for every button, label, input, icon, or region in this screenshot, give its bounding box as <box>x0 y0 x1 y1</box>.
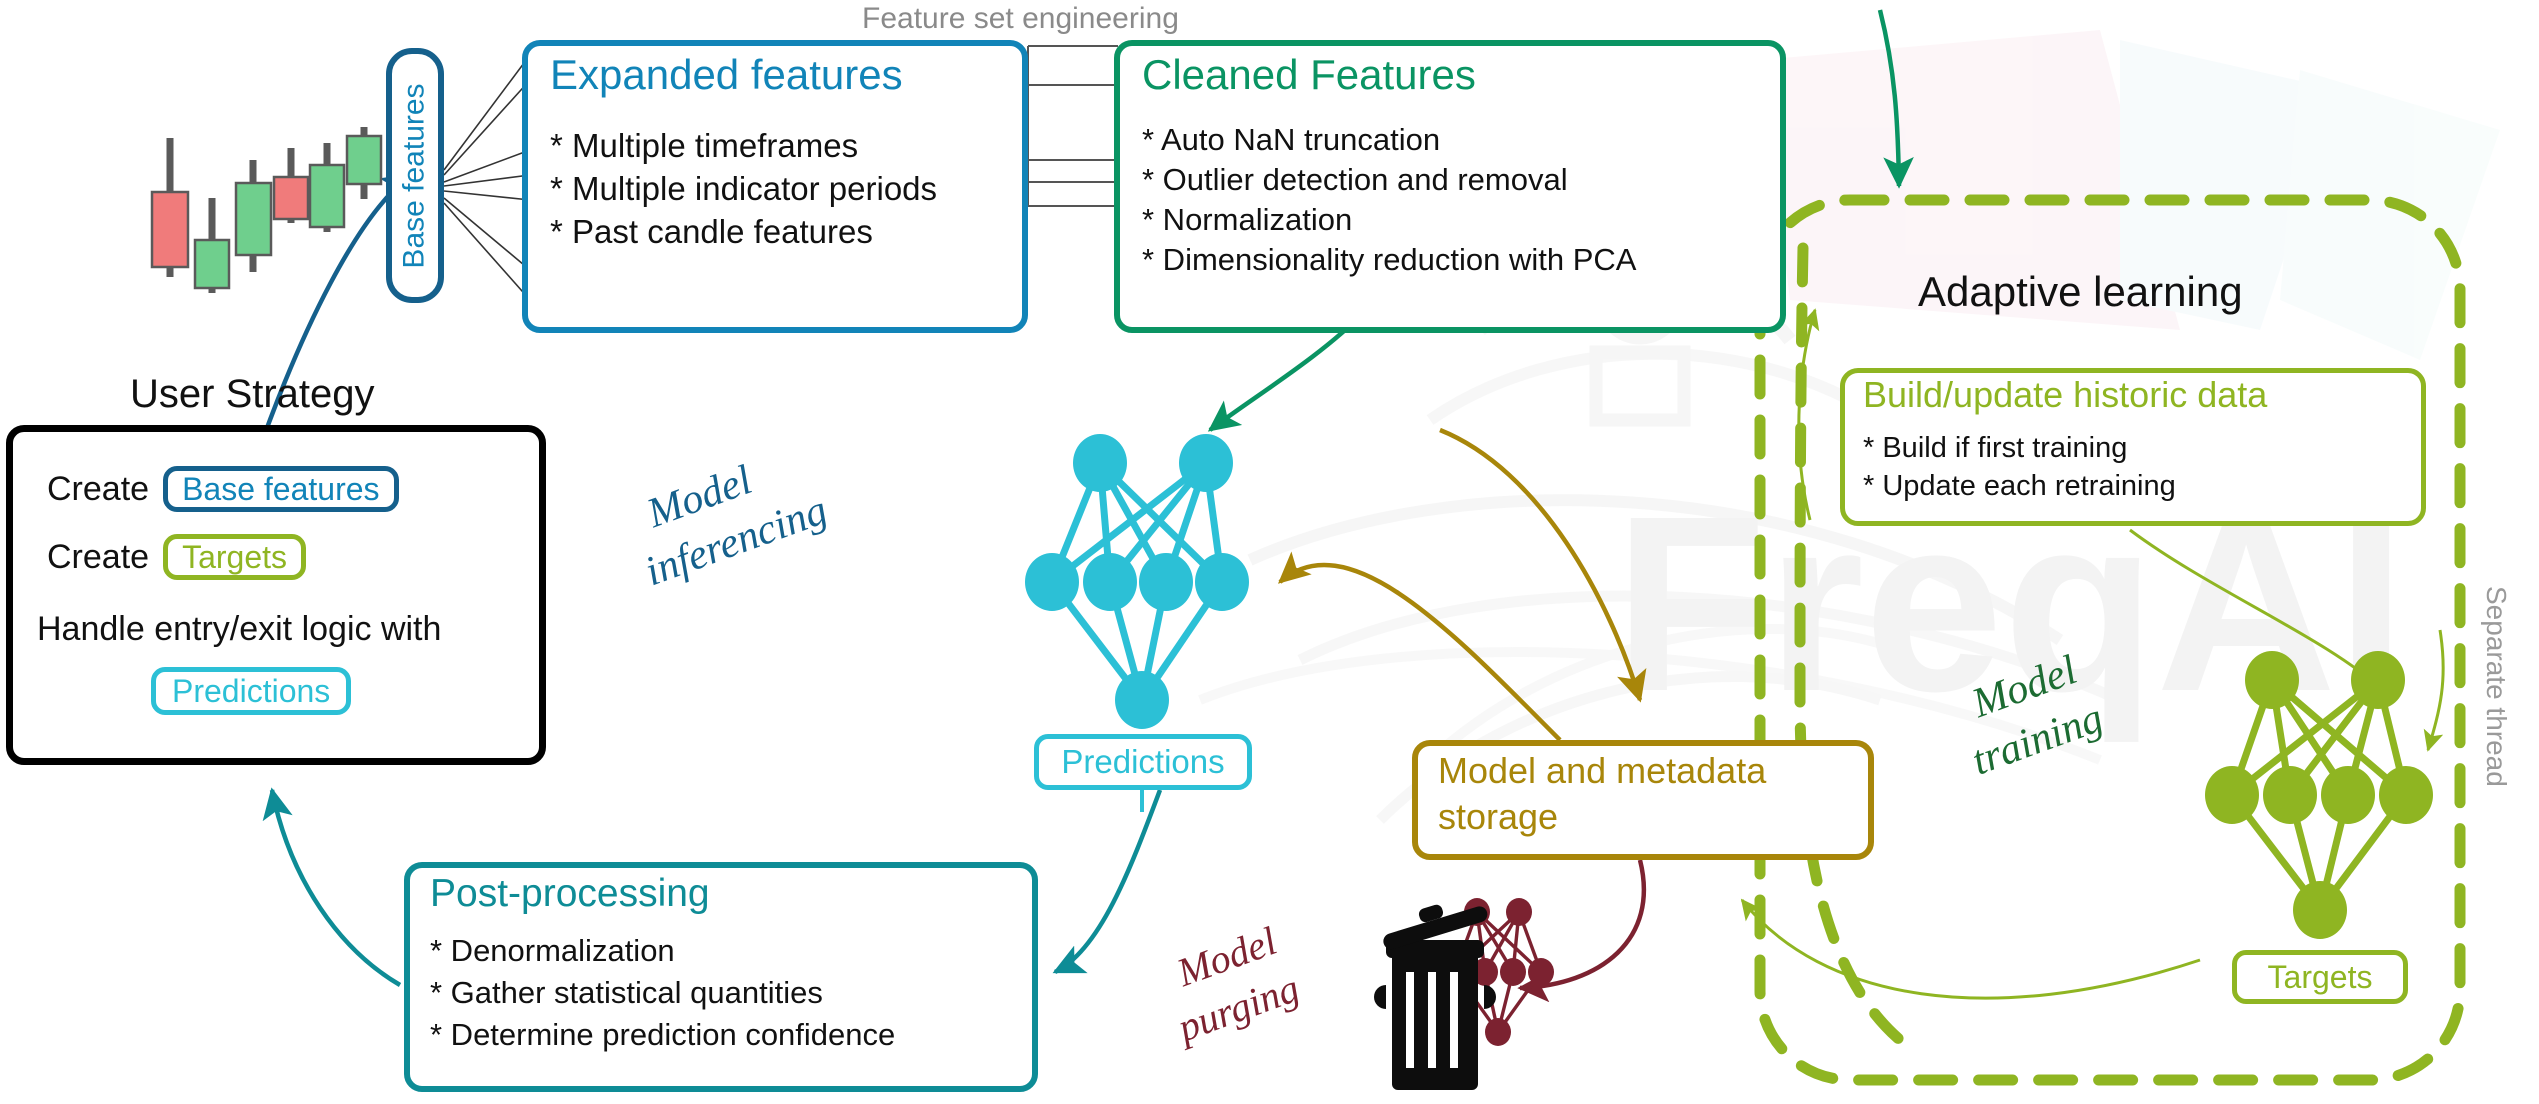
user-strategy-box[interactable]: Create Base features Create Targets Hand… <box>6 425 546 765</box>
create-label-1: Create <box>47 470 149 509</box>
list-item: * Normalization <box>1142 200 1637 240</box>
targets-inline-label: Targets <box>182 539 287 576</box>
list-item: * Dimensionality reduction with PCA <box>1142 240 1637 280</box>
build-update-bullets: * Build if first training * Update each … <box>1863 429 2176 505</box>
list-item: * Update each retraining <box>1863 467 2176 505</box>
model-storage-box[interactable]: Model and metadata storage <box>1412 740 1874 860</box>
arrow-predictions-to-post <box>1055 790 1160 972</box>
candlestick-chart <box>152 127 381 293</box>
feature-set-engineering-text: Feature set engineering <box>862 2 1179 35</box>
list-item: * Multiple indicator periods <box>550 167 937 210</box>
expanded-features-title: Expanded features <box>550 54 903 96</box>
build-update-title: Build/update historic data <box>1863 377 2267 413</box>
storage-line-1: Model and metadata <box>1438 750 1766 792</box>
list-item: * Gather statistical quantities <box>430 972 895 1014</box>
list-item: * Build if first training <box>1863 429 2176 467</box>
post-processing-bullets: * Denormalization * Gather statistical q… <box>430 930 895 1056</box>
trash-can-icon <box>1374 891 1496 1090</box>
user-strategy-title-text: User Strategy <box>130 372 375 416</box>
user-strategy-title: User Strategy <box>130 372 375 417</box>
fan-lines-expanded <box>444 55 530 300</box>
user-strategy-line-2: Create Targets <box>47 534 306 580</box>
build-update-box[interactable]: Build/update historic data * Build if fi… <box>1840 368 2426 526</box>
list-item: * Determine prediction confidence <box>430 1014 895 1056</box>
targets-pill[interactable]: Targets <box>2232 950 2408 1004</box>
cleaned-features-title: Cleaned Features <box>1142 54 1476 96</box>
base-features-inline-label: Base features <box>182 471 379 508</box>
arrow-post-to-strategy <box>272 790 400 985</box>
targets-pill-label: Targets <box>2268 959 2373 996</box>
predictions-inline-label: Predictions <box>172 673 330 710</box>
base-features-pill-label: Base features <box>398 83 432 268</box>
expanded-features-box[interactable]: Expanded features * Multiple timeframes … <box>522 40 1028 333</box>
predictions-pill-label: Predictions <box>1061 743 1224 781</box>
list-item: * Denormalization <box>430 930 895 972</box>
feature-set-engineering-label: Feature set engineering <box>862 2 1282 36</box>
list-item: * Auto NaN truncation <box>1142 120 1637 160</box>
list-item: * Past candle features <box>550 210 937 253</box>
rungs-expanded-to-cleaned <box>1028 46 1118 206</box>
diagram-canvas: FreqAI <box>0 0 2539 1104</box>
separate-thread-label: Separate thread <box>2480 586 2512 787</box>
cleaned-features-bullets: * Auto NaN truncation * Outlier detectio… <box>1142 120 1637 280</box>
user-strategy-line-3: Handle entry/exit logic with <box>37 610 441 649</box>
targets-inline-pill[interactable]: Targets <box>163 534 306 580</box>
base-features-inline-pill[interactable]: Base features <box>163 466 398 512</box>
base-features-pill[interactable]: Base features <box>386 48 444 303</box>
separate-thread-text: Separate thread <box>2481 586 2512 787</box>
predictions-pill[interactable]: Predictions <box>1034 734 1252 790</box>
list-item: * Multiple timeframes <box>550 124 937 167</box>
create-label-2: Create <box>47 538 149 577</box>
adaptive-learning-text: Adaptive learning <box>1918 268 2243 315</box>
cleaned-features-box[interactable]: Cleaned Features * Auto NaN truncation *… <box>1114 40 1786 333</box>
expanded-features-bullets: * Multiple timeframes * Multiple indicat… <box>550 124 937 253</box>
list-item: * Outlier detection and removal <box>1142 160 1637 200</box>
post-processing-title: Post-processing <box>430 874 710 913</box>
predictions-inline-pill[interactable]: Predictions <box>151 667 351 715</box>
user-strategy-line-1: Create Base features <box>47 466 399 512</box>
adaptive-learning-label: Adaptive learning <box>1918 268 2243 316</box>
post-processing-box[interactable]: Post-processing * Denormalization * Gath… <box>404 862 1038 1092</box>
storage-line-2: storage <box>1438 796 1558 838</box>
arrow-thread-into-training <box>2428 630 2443 750</box>
